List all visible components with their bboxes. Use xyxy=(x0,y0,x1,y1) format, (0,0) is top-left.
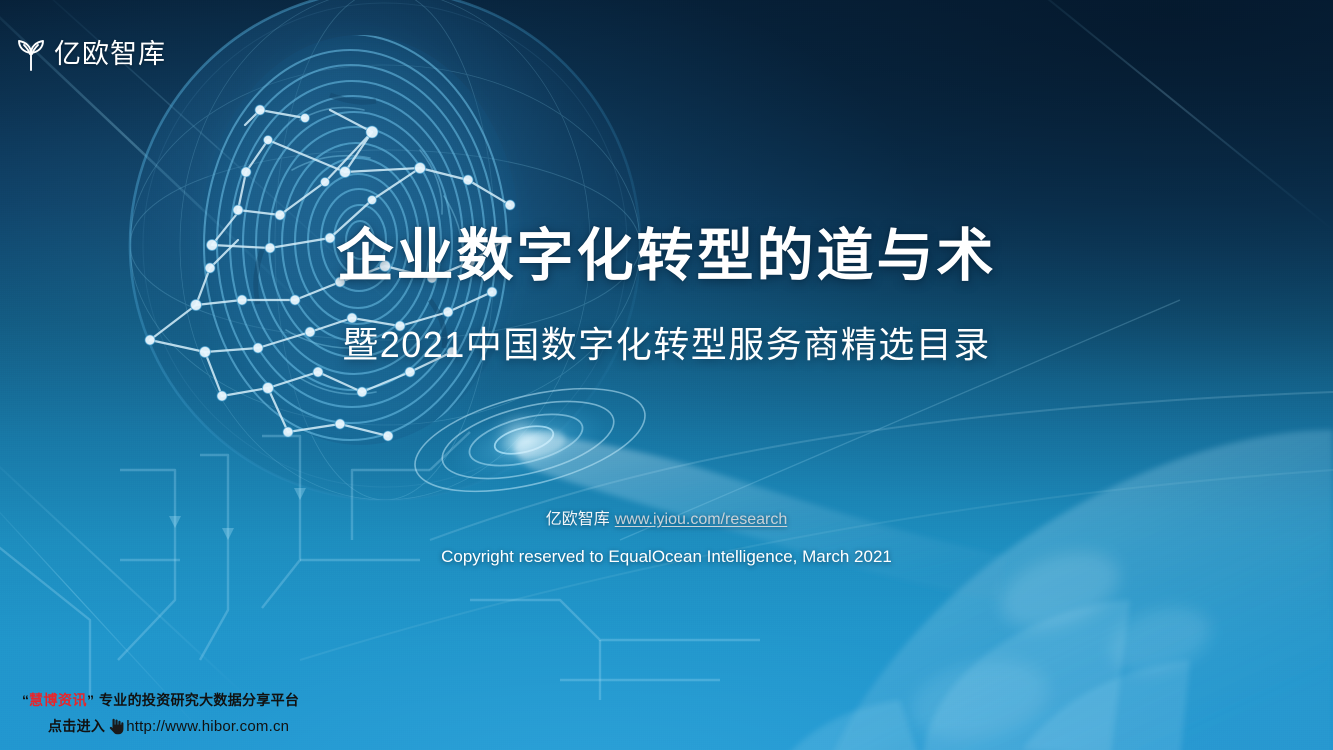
watermark-quote-open: “ xyxy=(22,690,29,712)
credit-org: 亿欧智库 xyxy=(546,511,610,528)
pointing-hand-icon xyxy=(106,717,125,736)
hibor-watermark: “慧博资讯”专业的投资研究大数据分享平台 点击进入 http://www.hib… xyxy=(22,690,299,738)
watermark-enter-label: 点击进入 xyxy=(48,716,105,738)
watermark-url[interactable]: http://www.hibor.com.cn xyxy=(126,715,289,738)
credits-block: 亿欧智库www.iyiou.com/research Copyright res… xyxy=(0,508,1333,570)
watermark-line-1: “慧博资讯”专业的投资研究大数据分享平台 xyxy=(22,690,299,712)
brand-logo-text: 亿欧智库 xyxy=(54,41,166,68)
cover-slide: 亿欧智库 企业数字化转型的道与术 暨2021中国数字化转型服务商精选目录 亿欧智… xyxy=(0,0,1333,750)
title-block: 企业数字化转型的道与术 暨2021中国数字化转型服务商精选目录 xyxy=(0,228,1333,363)
watermark-brand: 慧博资讯 xyxy=(29,690,87,712)
watermark-quote-close: ” xyxy=(87,690,94,712)
brand-logo: 亿欧智库 xyxy=(14,36,166,72)
credit-url-link[interactable]: www.iyiou.com/research xyxy=(615,511,788,528)
credit-source-line: 亿欧智库www.iyiou.com/research xyxy=(0,508,1333,532)
yiou-tree-icon xyxy=(14,36,48,72)
main-title: 企业数字化转型的道与术 xyxy=(0,228,1333,285)
watermark-line-2: 点击进入 http://www.hibor.com.cn xyxy=(22,715,299,738)
watermark-tagline: 专业的投资研究大数据分享平台 xyxy=(99,690,299,712)
sub-title: 暨2021中国数字化转型服务商精选目录 xyxy=(0,327,1333,363)
background-bottom-glow xyxy=(0,0,1333,750)
credit-copyright: Copyright reserved to EqualOcean Intelli… xyxy=(0,544,1333,570)
